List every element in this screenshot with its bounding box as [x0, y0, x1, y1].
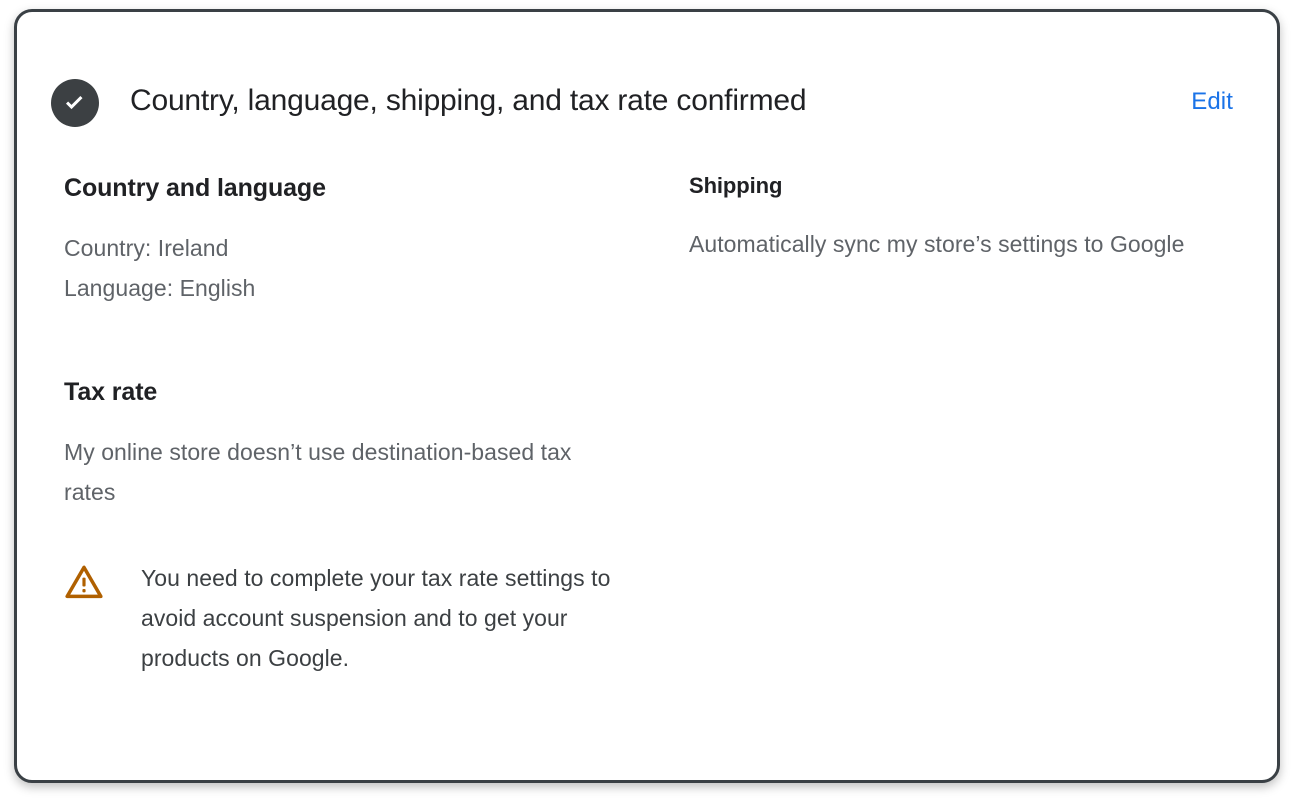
warning-triangle-icon — [64, 562, 104, 602]
shipping-heading: Shipping — [689, 172, 1233, 200]
shipping-value: Automatically sync my store’s settings t… — [689, 224, 1233, 264]
section-country-language: Country and language Country: Ireland La… — [64, 172, 688, 308]
right-column: Shipping Automatically sync my store’s s… — [688, 172, 1233, 264]
card-body: Country and language Country: Ireland La… — [17, 172, 1277, 780]
check-circle-icon — [51, 79, 99, 127]
section-tax-rate: Tax rate My online store doesn’t use des… — [64, 376, 688, 678]
country-language-values: Country: Ireland Language: English — [64, 228, 604, 308]
tax-rate-warning-text: You need to complete your tax rate setti… — [141, 558, 641, 678]
card-header: Country, language, shipping, and tax rat… — [17, 12, 1277, 172]
tax-rate-value: My online store doesn’t use destination-… — [64, 432, 604, 512]
edit-link[interactable]: Edit — [1191, 79, 1233, 125]
left-column: Country and language Country: Ireland La… — [64, 172, 688, 678]
tax-rate-heading: Tax rate — [64, 376, 688, 408]
country-language-heading: Country and language — [64, 172, 688, 204]
screen: Country, language, shipping, and tax rat… — [0, 0, 1296, 800]
page-title: Country, language, shipping, and tax rat… — [130, 78, 1191, 124]
language-value: Language: English — [64, 268, 604, 308]
confirmation-card: Country, language, shipping, and tax rat… — [14, 9, 1280, 783]
section-shipping: Shipping Automatically sync my store’s s… — [689, 172, 1233, 264]
tax-rate-warning: You need to complete your tax rate setti… — [64, 558, 688, 678]
country-value: Country: Ireland — [64, 228, 604, 268]
